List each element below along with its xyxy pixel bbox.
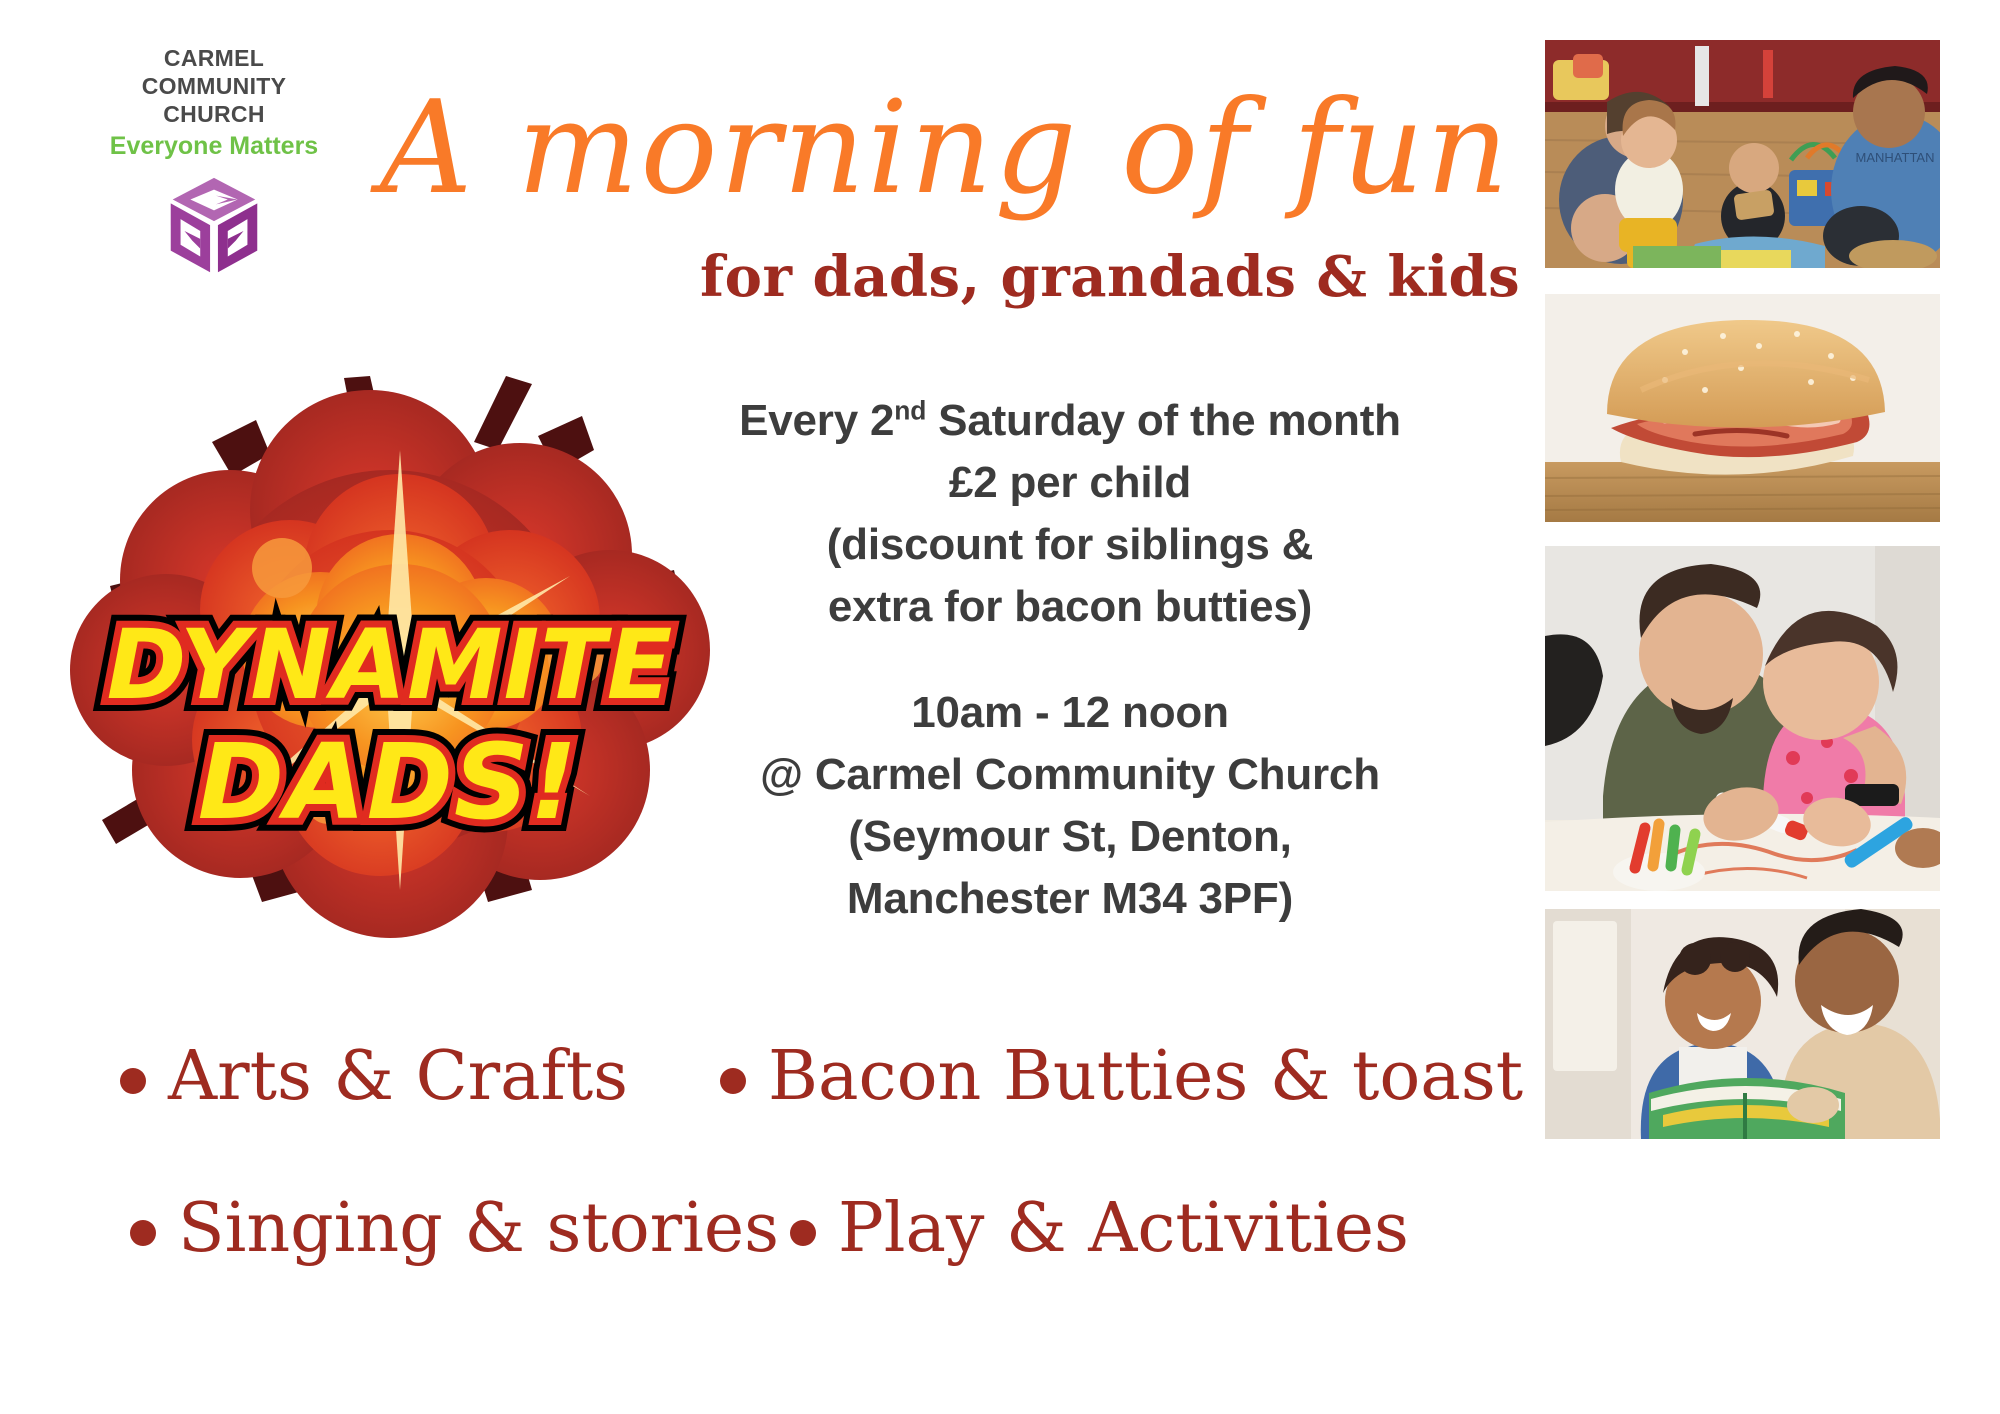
photo-dad-and-daughter-crafting (1545, 546, 1940, 891)
ordinal-suffix: nd (894, 395, 926, 425)
photo-dad-reading-with-child (1545, 909, 1940, 1139)
activities-row-2: Singing & stories Play & Activities (120, 1192, 1540, 1266)
activity-item-arts-crafts: Arts & Crafts (120, 1040, 720, 1114)
photo-strip: MANHATTAN (1545, 40, 1940, 1139)
svg-text:DADS!: DADS! (198, 721, 578, 843)
headline-script-text: A morning of fun (370, 74, 1511, 223)
detail-line-frequency: Every 2nd Saturday of the month (700, 390, 1440, 452)
bullet-dot-icon (720, 1068, 746, 1094)
church-name-line-2: COMMUNITY (104, 72, 324, 100)
church-name-line-3: CHURCH (104, 100, 324, 128)
badge-text-dynamite: DYNAMITE DYNAMITE (107, 609, 674, 721)
activity-label: Bacon Butties & toast (768, 1040, 1523, 1114)
detail-line-discount-1: (discount for siblings & (700, 514, 1440, 576)
detail-line-venue: @ Carmel Community Church (700, 744, 1440, 806)
activities-list: Arts & Crafts Bacon Butties & toast Sing… (120, 1040, 1540, 1266)
event-details-block: Every 2nd Saturday of the month £2 per c… (700, 390, 1440, 930)
headline-subtitle: for dads, grandads & kids (700, 244, 1520, 310)
detail-line-time: 10am - 12 noon (700, 682, 1440, 744)
poster-canvas: CARMEL COMMUNITY CHURCH Everyone Matters (0, 0, 2000, 1414)
activity-label: Singing & stories (178, 1192, 779, 1266)
bullet-dot-icon (130, 1220, 156, 1246)
headline-script: A morning of fun (380, 80, 1500, 230)
detail-line-price: £2 per child (700, 452, 1440, 514)
dynamite-dads-badge: DYNAMITE DYNAMITE DADS! DADS! (70, 350, 710, 950)
detail-line-address-2: Manchester M34 3PF) (700, 868, 1440, 930)
bullet-dot-icon (120, 1068, 146, 1094)
detail-line-discount-2: extra for bacon butties) (700, 576, 1440, 638)
detail-spacer (700, 638, 1440, 682)
activity-label: Play & Activities (838, 1192, 1409, 1266)
photo-bacon-butty (1545, 294, 1940, 522)
photo-dads-playing-with-toddlers: MANHATTAN (1545, 40, 1940, 268)
church-name-line-1: CARMEL (104, 44, 324, 72)
detail-line-address-1: (Seymour St, Denton, (700, 806, 1440, 868)
cube-logo-icon (155, 170, 273, 288)
activity-item-play-activities: Play & Activities (790, 1192, 1510, 1266)
svg-text:MANHATTAN: MANHATTAN (1856, 150, 1935, 165)
badge-text-dads: DADS! DADS! (198, 721, 578, 843)
bullet-dot-icon (790, 1220, 816, 1246)
activity-item-singing-stories: Singing & stories (120, 1192, 790, 1266)
svg-text:DYNAMITE: DYNAMITE (107, 609, 674, 721)
activity-item-bacon-butties: Bacon Butties & toast (720, 1040, 1500, 1114)
church-tagline: Everyone Matters (104, 130, 324, 162)
activity-label: Arts & Crafts (168, 1040, 628, 1114)
activities-row-1: Arts & Crafts Bacon Butties & toast (120, 1040, 1540, 1114)
church-logo-block: CARMEL COMMUNITY CHURCH Everyone Matters (104, 44, 324, 288)
